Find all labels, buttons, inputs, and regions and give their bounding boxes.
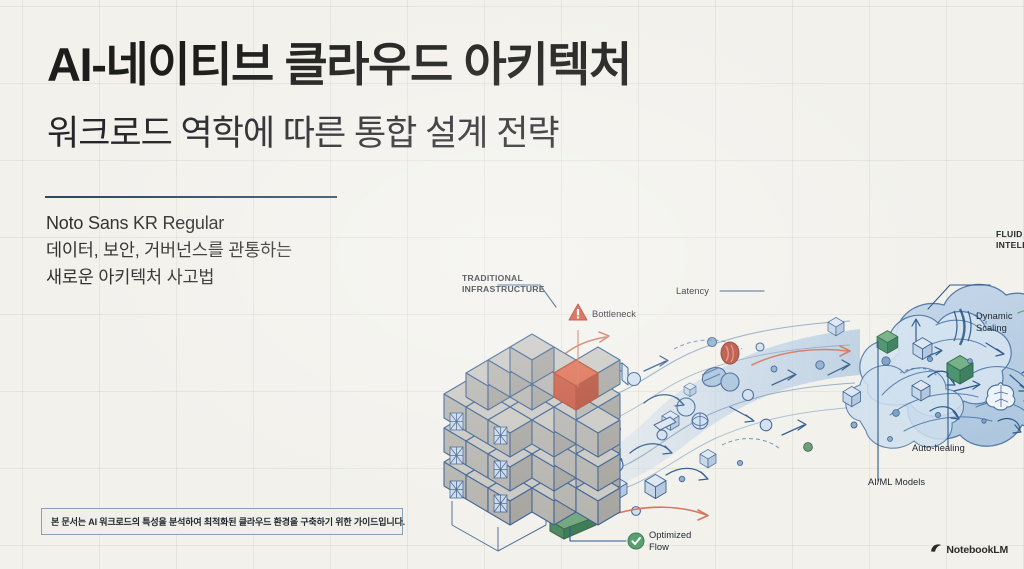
label-traditional-infrastructure-line1: TRADITIONAL (462, 273, 523, 283)
body-line-2: 데이터, 보안, 거버넌스를 관통하는 (46, 237, 292, 264)
check-circle-icon (628, 533, 644, 549)
warning-triangle-icon (569, 304, 587, 320)
cloud-shape (846, 284, 1024, 448)
page-title: AI-네이티브 클라우드 아키텍처 (47, 40, 631, 90)
label-dynamic-scaling-line1: Dynamic (976, 311, 1013, 321)
brand-mark: NotebookLM (930, 541, 1008, 559)
body-line-3: 새로운 아키텍처 사고법 (46, 264, 292, 291)
traditional-infrastructure-cubes (444, 334, 620, 551)
label-optimized-flow-line1: Optimized (649, 530, 691, 540)
label-fluid-intelligence-line2: INTELLIGENCE (996, 240, 1024, 250)
notebooklm-spark-icon (930, 541, 942, 559)
label-bottleneck: Bottleneck (592, 309, 636, 319)
label-optimized-flow-line2: Flow (649, 542, 669, 552)
label-auto-healing: Auto-healing (912, 443, 965, 453)
label-stateless: Stateless (992, 225, 1024, 227)
footnote-box: 본 문서는 AI 워크로드의 특성을 분석하여 최적화된 클라우드 환경을 구축… (41, 508, 403, 535)
slide-canvas: TRADITIONAL INFRASTRUCTURE Bottleneck La… (0, 0, 1024, 569)
body-line-1: Noto Sans KR Regular (46, 210, 292, 237)
red-node (721, 342, 739, 364)
brain-icon (986, 383, 1015, 410)
footnote-text: 본 문서는 AI 워크로드의 특성을 분석하여 최적화된 클라우드 환경을 구축… (51, 515, 405, 528)
title-divider (45, 196, 337, 198)
body-text-block: Noto Sans KR Regular 데이터, 보안, 거버넌스를 관통하는… (46, 210, 292, 291)
label-fluid-intelligence-line1: FLUID (996, 229, 1023, 239)
label-ai-ml-models: AI/ML Models (868, 477, 925, 487)
page-subtitle: 워크로드 역학에 따른 통합 설계 전략 (47, 115, 559, 154)
architecture-diagram: TRADITIONAL INFRASTRUCTURE Bottleneck La… (430, 225, 1024, 555)
label-traditional-infrastructure-line2: INFRASTRUCTURE (462, 284, 545, 294)
brand-label: NotebookLM (946, 544, 1008, 556)
label-dynamic-scaling-line2: Scaling (976, 323, 1007, 333)
label-latency: Latency (676, 286, 709, 296)
